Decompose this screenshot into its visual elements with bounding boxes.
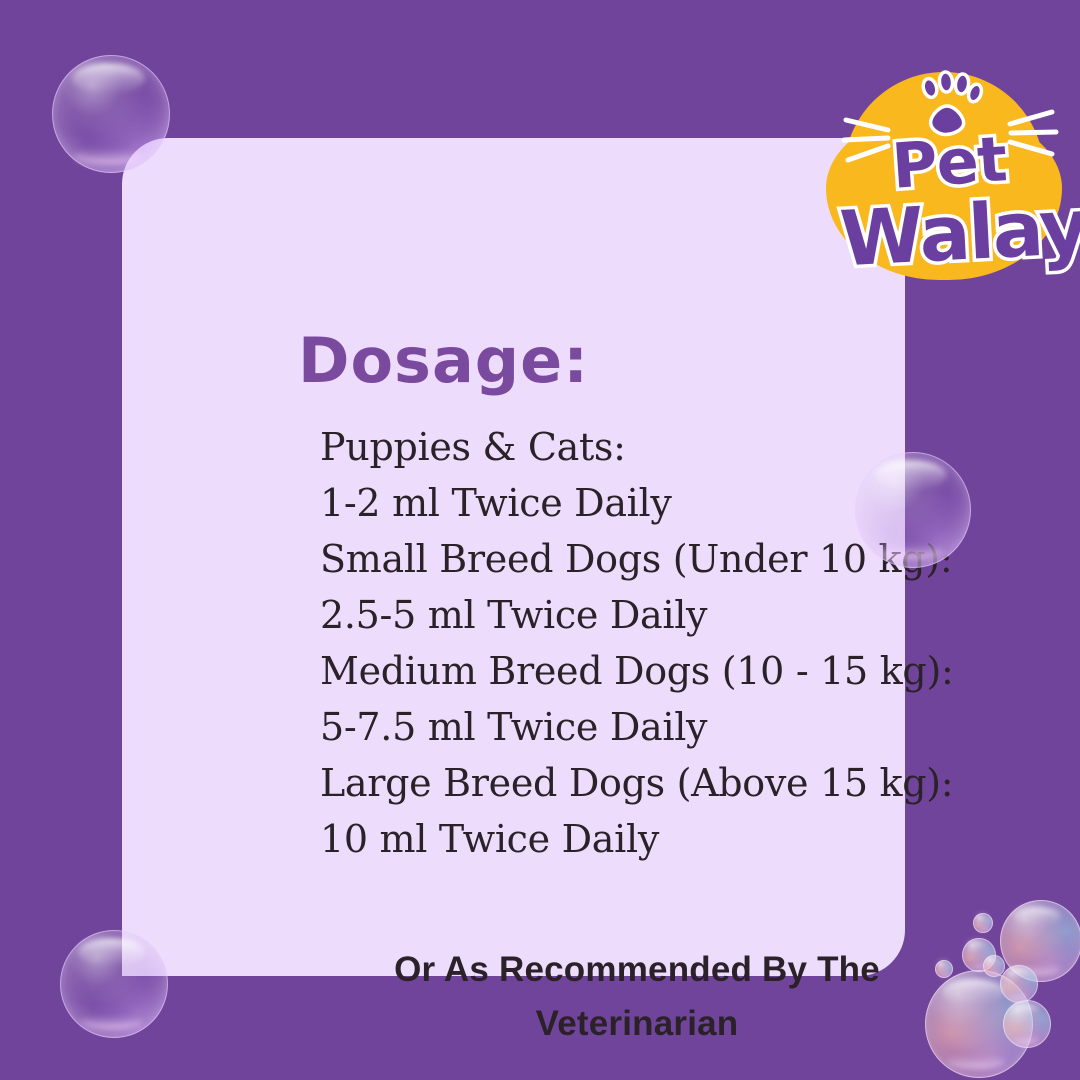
dosage-list: Puppies & Cats:1-2 ml Twice DailySmall B… <box>320 419 1020 867</box>
bubble-cluster-tiny2 <box>973 913 993 933</box>
page-title: Dosage: <box>298 324 589 397</box>
whisker-icon-right <box>1010 112 1056 154</box>
poster-canvas: Dosage: Puppies & Cats:1-2 ml Twice Dail… <box>0 0 1080 1080</box>
dosage-line: Medium Breed Dogs (10 - 15 kg): <box>320 643 1020 699</box>
footer-note: Or As Recommended By TheVeterinarian <box>282 943 992 1051</box>
content-card: Dosage: Puppies & Cats:1-2 ml Twice Dail… <box>122 138 905 976</box>
dosage-line: 2.5-5 ml Twice Daily <box>320 587 1020 643</box>
bubble-cluster-small <box>1000 965 1038 1003</box>
footer-line: Or As Recommended By The <box>282 943 992 997</box>
brand-logo: Pet Walay <box>818 58 1070 290</box>
footer-line: Veterinarian <box>282 997 992 1051</box>
dosage-line: 10 ml Twice Daily <box>320 811 1020 867</box>
bubble-cluster-big <box>1000 900 1080 982</box>
dosage-line: 1-2 ml Twice Daily <box>320 475 1020 531</box>
dosage-line: Small Breed Dogs (Under 10 kg): <box>320 531 1020 587</box>
dosage-line: Puppies & Cats: <box>320 419 1020 475</box>
dosage-line: 5-7.5 ml Twice Daily <box>320 699 1020 755</box>
logo-word-walay: Walay <box>838 182 1080 284</box>
bubble-cluster-mid <box>1003 1000 1051 1048</box>
whisker-icon-left <box>844 120 888 160</box>
dosage-line: Large Breed Dogs (Above 15 kg): <box>320 755 1020 811</box>
